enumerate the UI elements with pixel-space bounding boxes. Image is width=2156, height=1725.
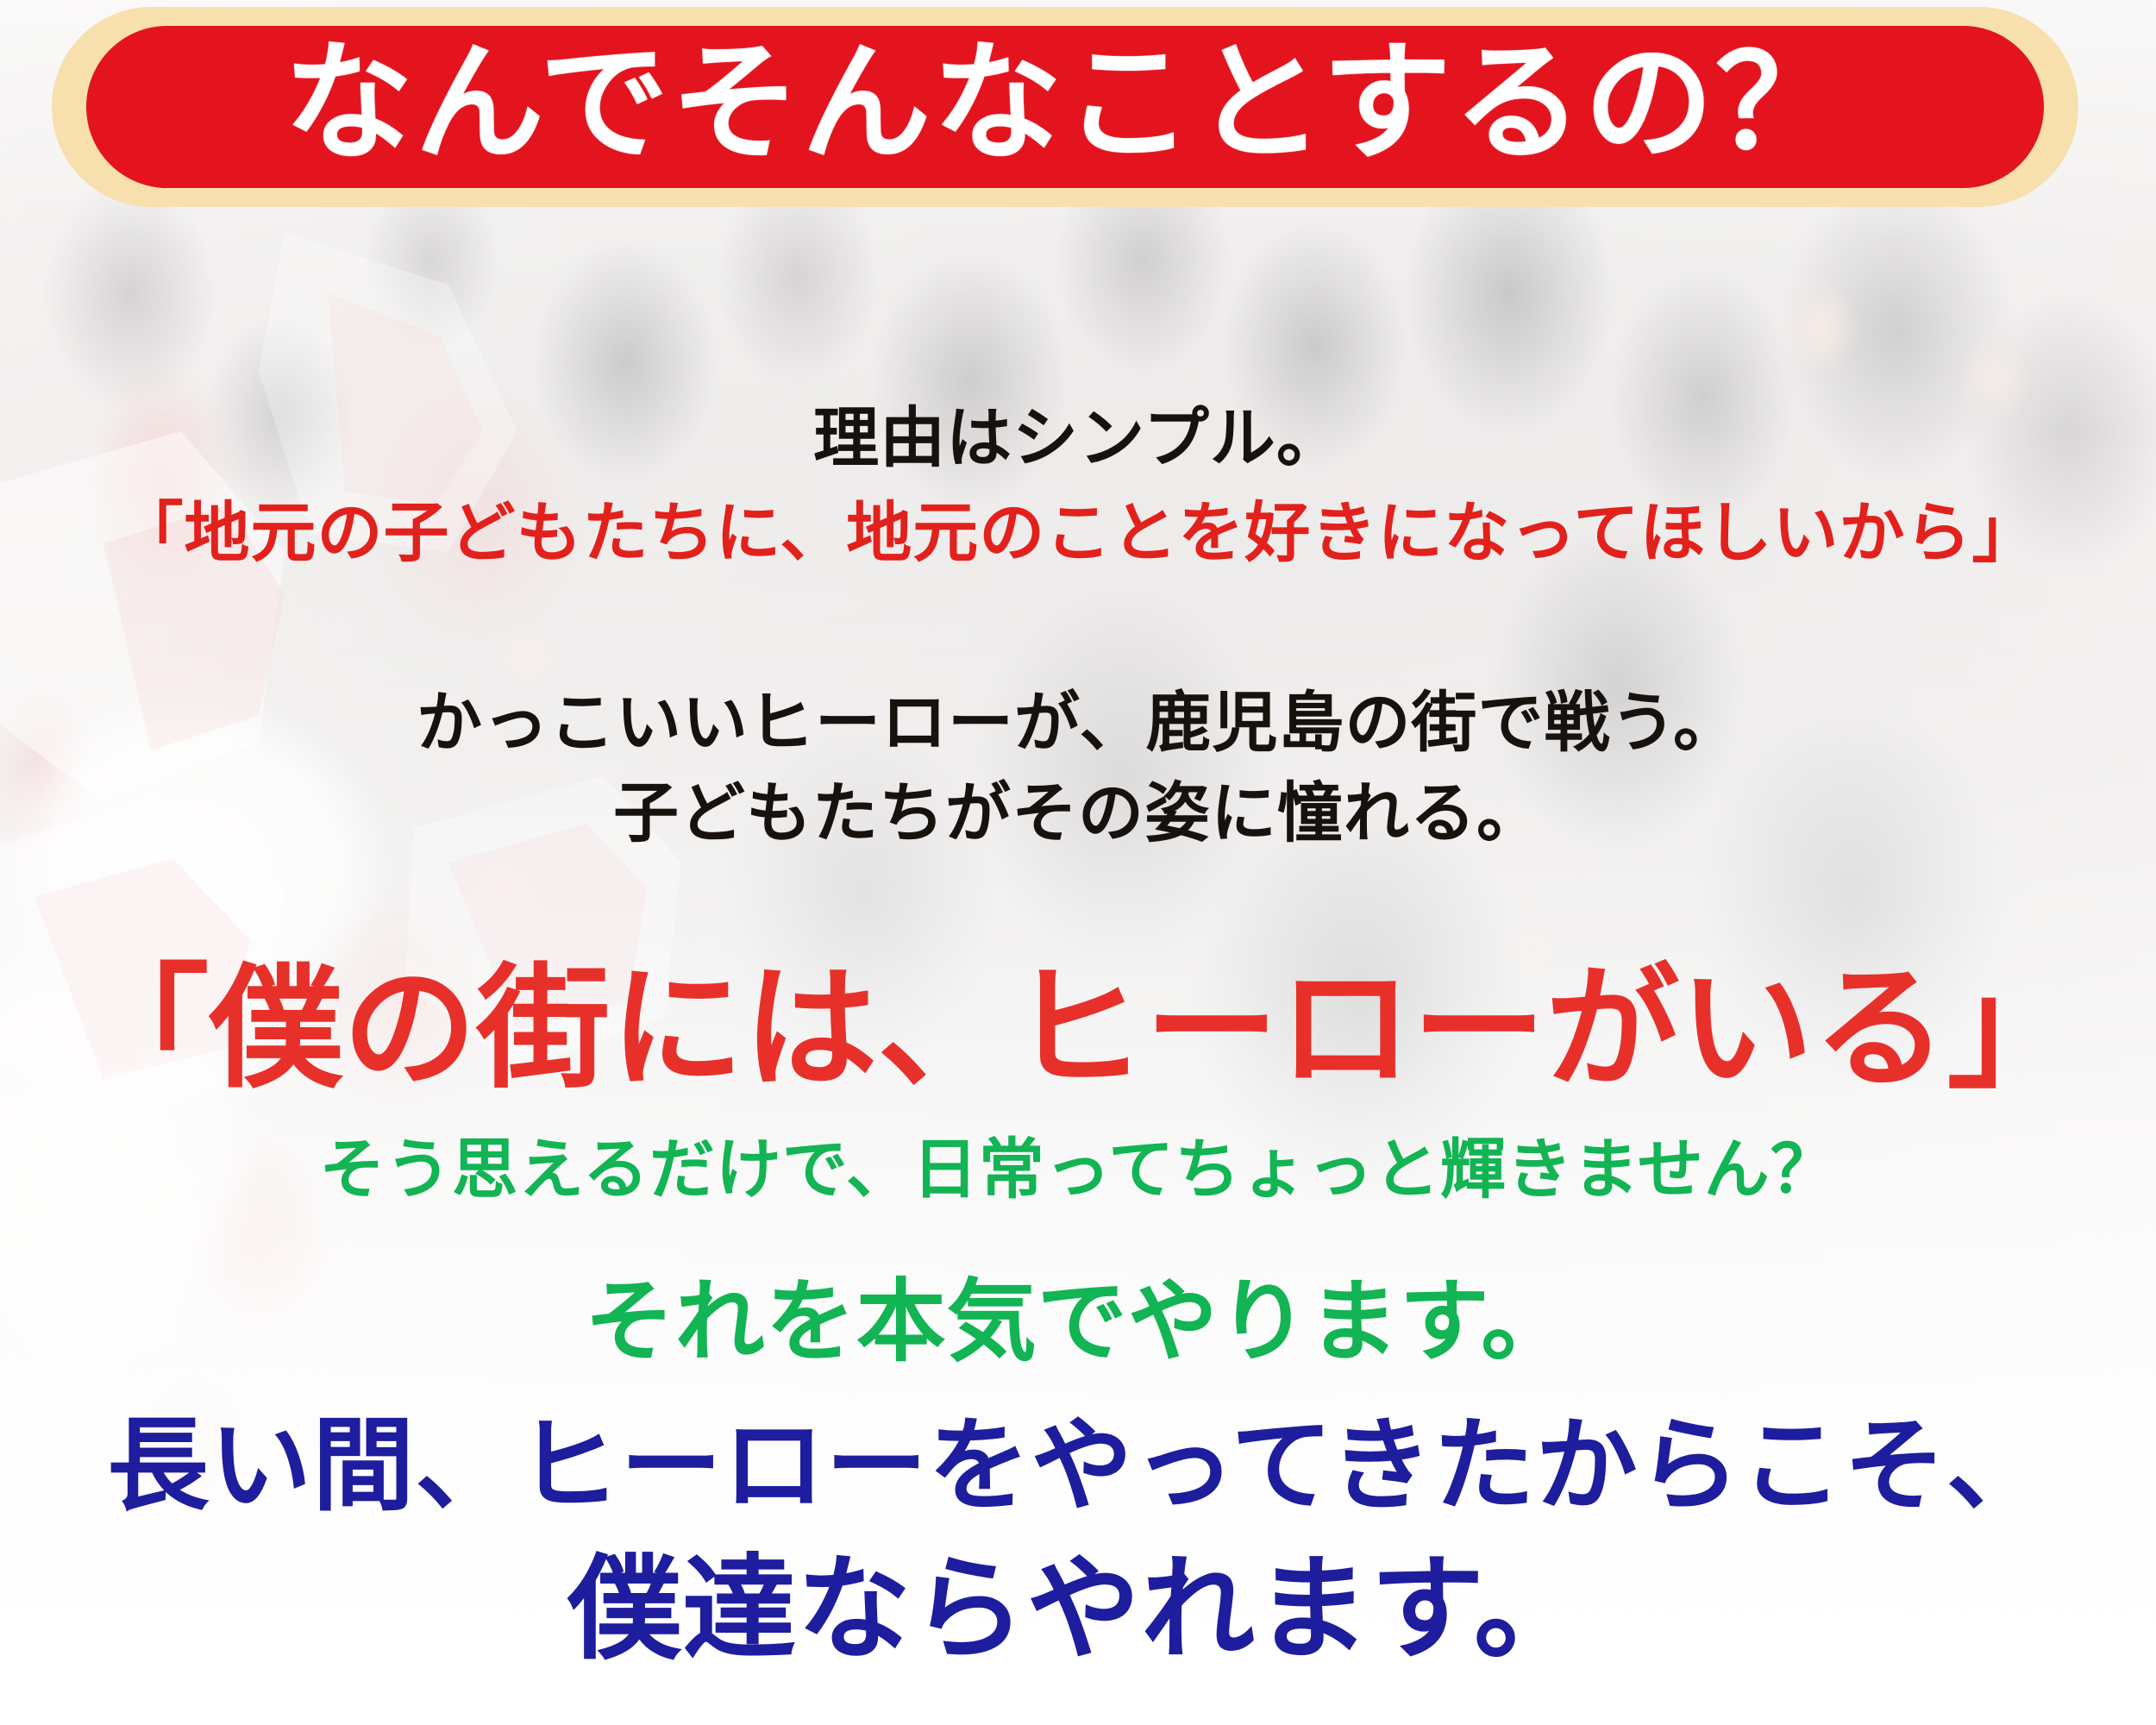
green-line-2: それを本気でやります。: [0, 1276, 2156, 1366]
body-line-2: 子どもたちがその姿に憧れる。: [0, 781, 2156, 846]
lead-line-black: 理由はシンプル。: [0, 405, 2156, 471]
green-line-1: そう思えるだけで、日常ってちょっと輝きません？: [0, 1137, 2156, 1202]
page-title: なんでそんなことするの？: [284, 39, 1846, 168]
blue-line-1: 長い間、ヒーローをやってきたからこそ、: [0, 1414, 2156, 1516]
body-line-1: かっこいいヒーローが、鹿児島の街で戦う。: [0, 690, 2156, 756]
title-banner: なんでそんなことするの？: [52, 7, 2078, 207]
blue-line-2: 僕達ならやれます。: [0, 1552, 2156, 1666]
lead-line-red-quote: 「地元の子どもたちに、地元のことを好きになってほしいから」: [0, 500, 2156, 566]
slide-root: なんでそんなことするの？ 理由はシンプル。 「地元の子どもたちに、地元のことを好…: [0, 0, 2156, 1725]
content-area: 理由はシンプル。 「地元の子どもたちに、地元のことを好きになってほしいから」 か…: [0, 0, 2156, 1725]
hero-quote-headline: 「僕の街には、ヒーローがいる」: [0, 962, 2156, 1095]
